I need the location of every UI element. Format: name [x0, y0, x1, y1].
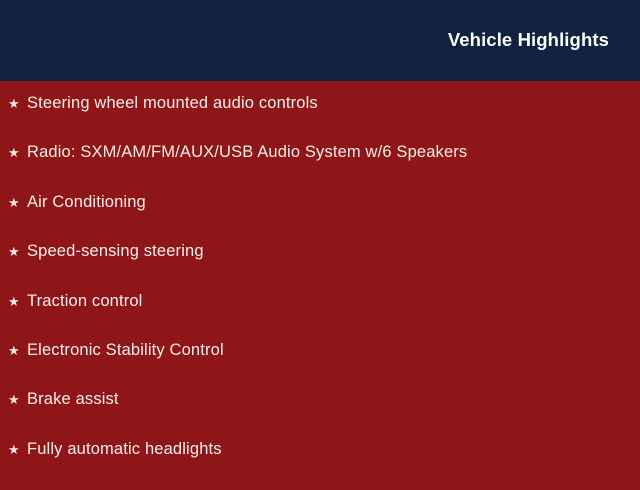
list-item: ★ Traction control — [0, 293, 640, 342]
highlight-label: Radio: SXM/AM/FM/AUX/USB Audio System w/… — [27, 144, 467, 161]
star-bullet-icon: ★ — [8, 196, 27, 209]
highlight-label: Fully automatic headlights — [27, 441, 222, 458]
highlights-body: ★ Steering wheel mounted audio controls … — [0, 81, 640, 480]
list-item: ★ Steering wheel mounted audio controls — [0, 95, 640, 144]
list-item: ★ Brake assist — [0, 391, 640, 440]
list-item: ★ Fully automatic headlights — [0, 441, 640, 490]
star-bullet-icon: ★ — [8, 393, 27, 406]
highlight-label: Traction control — [27, 293, 143, 310]
list-item: ★ Air Conditioning — [0, 194, 640, 243]
highlights-list: ★ Steering wheel mounted audio controls … — [0, 95, 640, 490]
list-item: ★ Radio: SXM/AM/FM/AUX/USB Audio System … — [0, 144, 640, 193]
header-bar: Vehicle Highlights — [0, 0, 640, 81]
highlight-label: Brake assist — [27, 391, 119, 408]
page-title: Vehicle Highlights — [448, 31, 609, 50]
list-item: ★ Speed-sensing steering — [0, 243, 640, 292]
star-bullet-icon: ★ — [8, 97, 27, 110]
highlight-label: Speed-sensing steering — [27, 243, 204, 260]
star-bullet-icon: ★ — [8, 295, 27, 308]
highlight-label: Steering wheel mounted audio controls — [27, 95, 318, 112]
highlight-label: Air Conditioning — [27, 194, 146, 211]
vehicle-highlights-panel: Vehicle Highlights ★ Steering wheel moun… — [0, 0, 640, 480]
star-bullet-icon: ★ — [8, 245, 27, 258]
star-bullet-icon: ★ — [8, 146, 27, 159]
list-item: ★ Electronic Stability Control — [0, 342, 640, 391]
highlight-label: Electronic Stability Control — [27, 342, 224, 359]
star-bullet-icon: ★ — [8, 344, 27, 357]
star-bullet-icon: ★ — [8, 443, 27, 456]
